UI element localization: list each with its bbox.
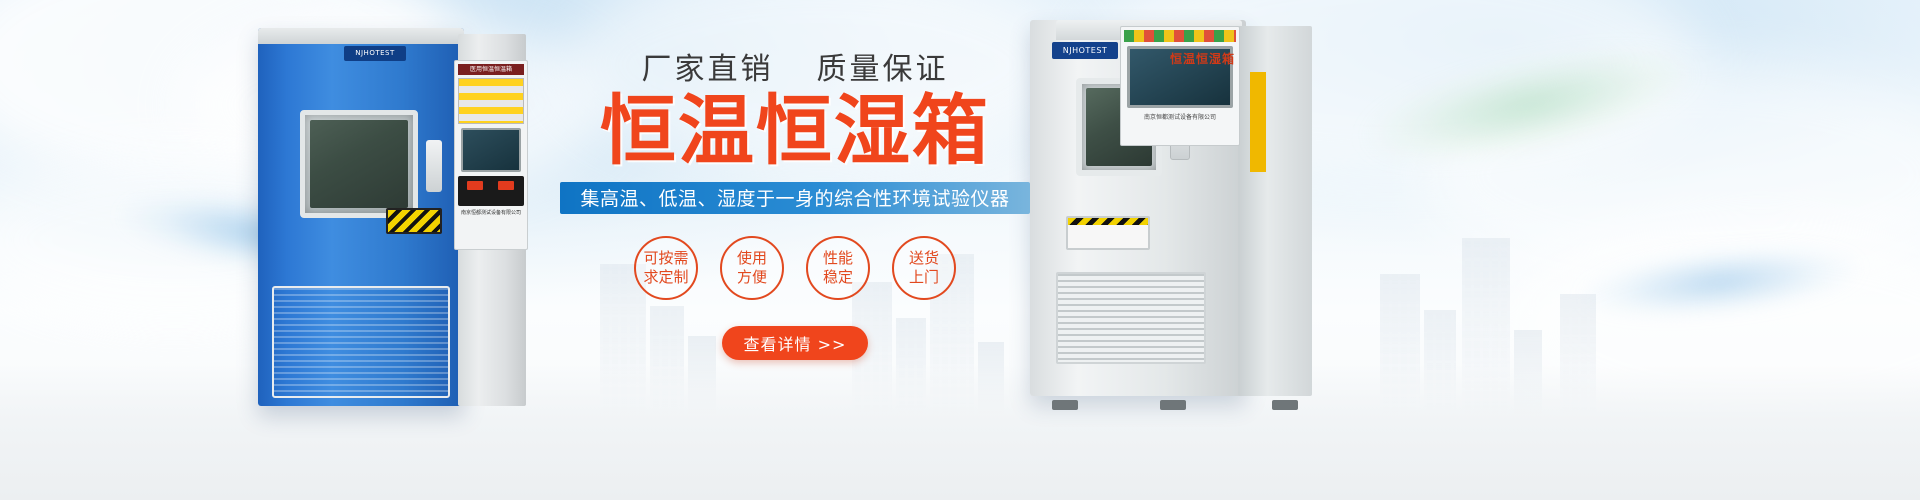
badge-line-1: 可按需 <box>643 249 688 267</box>
kicker-line: 厂家直销 质量保证 <box>560 44 1030 88</box>
headline: 恒温恒湿箱 <box>560 92 1030 170</box>
vent-grill <box>1056 272 1206 364</box>
badge-line-2: 求定制 <box>643 268 688 286</box>
subtitle-text: 集高温、低温、湿度于一身的综合性环境试验仪器 <box>580 184 1009 211</box>
view-details-label: 查看详情 >> <box>744 331 847 355</box>
subtitle-bar: 集高温、低温、湿度于一身的综合性环境试验仪器 <box>560 182 1030 214</box>
warning-label-icon <box>1124 30 1236 42</box>
badge-custom-made[interactable]: 可按需 求定制 <box>634 236 698 300</box>
yellow-stripe <box>1250 72 1266 172</box>
product-image-right: NJHOTEST 南京恒都测试设备有限公司 恒温恒湿箱 <box>1020 12 1320 404</box>
kicker-left-text: 厂家直销 <box>641 52 773 87</box>
hazard-sticker-icon <box>1066 216 1150 250</box>
badge-line-1: 使用 <box>737 249 767 267</box>
badge-line-1: 性能 <box>823 249 853 267</box>
product-image-left: NJHOTEST 医用恒温恒温箱 南京恒都测试设备有限公司 <box>258 28 526 406</box>
left-control-panel: 医用恒温恒温箱 南京恒都测试设备有限公司 <box>454 60 528 250</box>
hmi-screen <box>461 128 521 172</box>
badge-door-delivery[interactable]: 送货 上门 <box>892 236 956 300</box>
right-control-panel: 南京恒都测试设备有限公司 <box>1120 26 1240 146</box>
promo-banner: NJHOTEST 医用恒温恒温箱 南京恒都测试设备有限公司 NJHOTEST <box>0 0 1920 500</box>
right-product-title: 恒温恒湿箱 <box>1170 48 1290 66</box>
badge-stable-performance[interactable]: 性能 稳定 <box>806 236 870 300</box>
warning-label-icon <box>458 78 524 124</box>
right-brand-plate: NJHOTEST <box>1052 42 1118 59</box>
badge-easy-to-use[interactable]: 使用 方便 <box>720 236 784 300</box>
badge-line-2: 方便 <box>737 268 767 286</box>
machine-feet <box>1040 400 1310 410</box>
hazard-sticker-icon <box>386 208 442 234</box>
left-brand-plate: NJHOTEST <box>344 46 406 61</box>
badge-line-2: 稳定 <box>823 268 853 286</box>
indicator-buttons <box>458 176 524 206</box>
view-details-button[interactable]: 查看详情 >> <box>722 326 868 360</box>
kicker-right-text: 质量保证 <box>817 52 949 87</box>
badge-line-1: 送货 <box>909 249 939 267</box>
feature-badges: 可按需 求定制 使用 方便 性能 稳定 送货 上门 <box>560 236 1030 300</box>
copy-block: 厂家直销 质量保证 恒温恒湿箱 集高温、低温、湿度于一身的综合性环境试验仪器 可… <box>560 44 1030 360</box>
badge-line-2: 上门 <box>909 268 939 286</box>
